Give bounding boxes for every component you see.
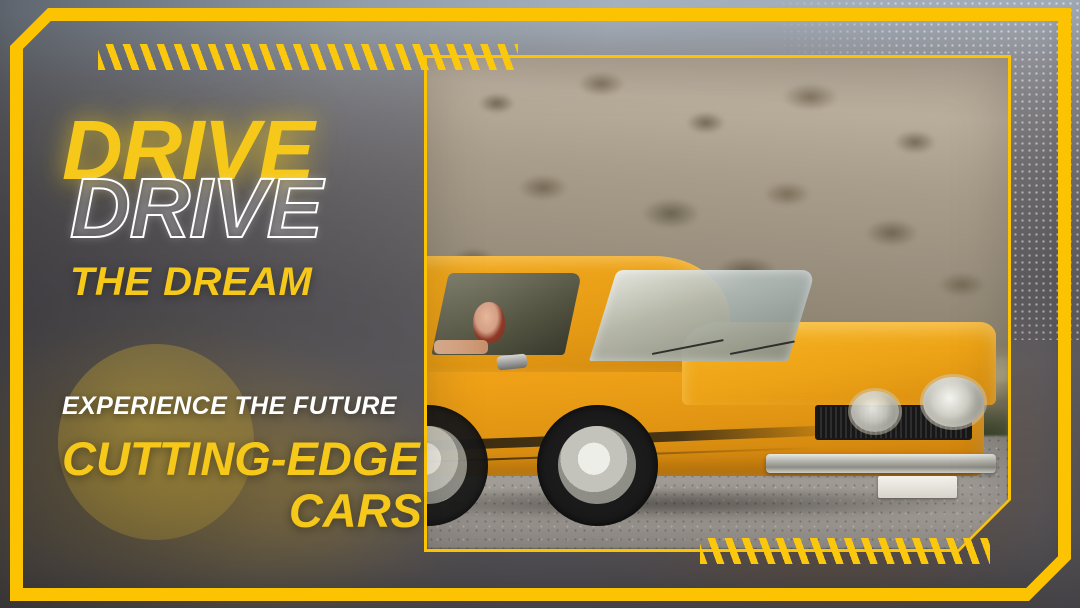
headline-title-row: DRIVE DRIVE [62,112,422,208]
lower-kicker: EXPERIENCE THE FUTURE [62,392,422,421]
lower-headline-line2: CARS [62,487,422,535]
headline-title-outline: DRIVE [70,170,322,247]
photo-card-border [424,55,1011,552]
photo-scene [427,58,1008,549]
headline-subtitle: THE DREAM [70,260,312,305]
lower-copy-block: EXPERIENCE THE FUTURE CUTTING-EDGE CARS [62,392,422,535]
headline-block: DRIVE DRIVE THE DREAM [62,112,422,208]
photo-image [427,58,1008,549]
lower-headline-line1: CUTTING-EDGE [62,435,422,483]
photo-inner-shadow [427,58,1008,549]
poster-canvas: DRIVE DRIVE THE DREAM EXPERIENCE THE FUT… [0,0,1080,608]
